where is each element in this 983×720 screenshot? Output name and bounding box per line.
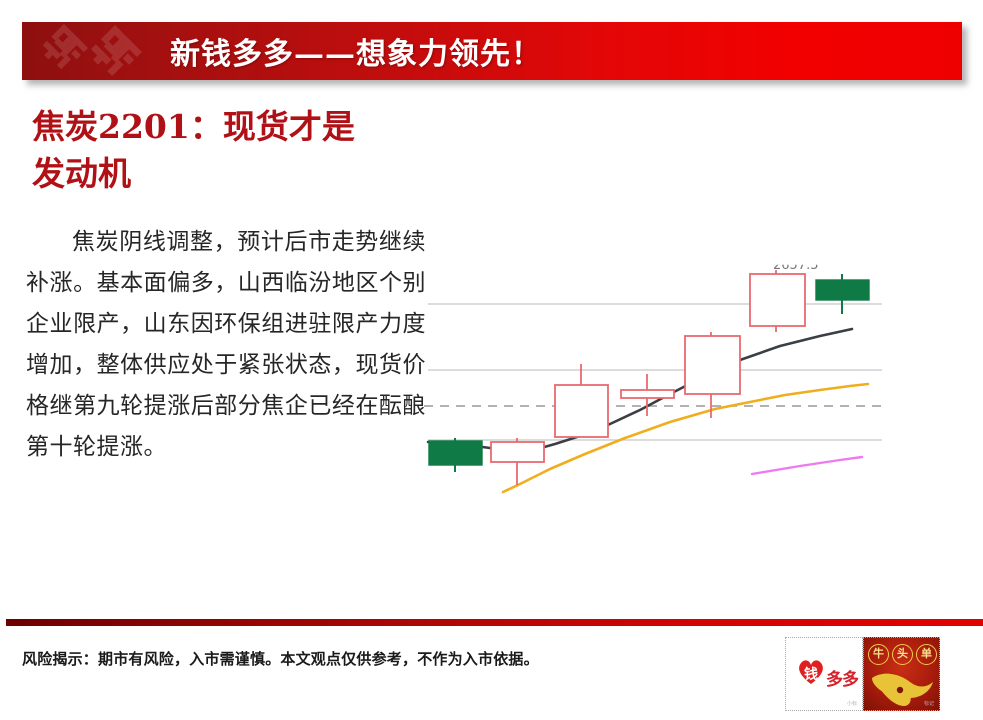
chart-svg [420, 252, 890, 508]
chart-gridlines [428, 304, 882, 440]
logo-niutoudan: 牛 头 单 标记 [863, 637, 940, 711]
logo-suffix-char: 多多 [826, 665, 858, 690]
ma-extra-line [752, 457, 862, 474]
candle-1 [429, 438, 482, 472]
candle-7 [816, 274, 869, 314]
body-paragraph: 焦炭阴线调整，预计后市走势继续补涨。基本面偏多，山西临汾地区个别企业限产，山东因… [26, 222, 426, 468]
logo-qianduoduo: 钱 多多 小标 [785, 637, 863, 711]
logo-char-circle-1: 牛 [868, 644, 889, 665]
logo-heart-char: 钱 [804, 664, 818, 684]
slide-canvas: 新钱多多——想象力领先！ 焦炭2201：现货才是 发动机 焦炭阴线调整，预计后市… [0, 0, 983, 720]
header-title: 新钱多多——想象力领先！ [170, 29, 542, 73]
logo-tiny-mark: 标记 [924, 700, 934, 707]
footer-disclaimer: 风险揭示：期市有风险，入市需谨慎。本文观点仅供参考，不作为入市依据。 [22, 648, 539, 669]
footer-logos: 钱 多多 小标 牛 头 单 标记 [785, 637, 940, 711]
page-title: 焦炭2201：现货才是 发动机 [32, 103, 452, 197]
candle-3 [555, 364, 608, 437]
candle-4 [621, 374, 674, 416]
candle-2 [491, 438, 544, 485]
candlestick-chart: 2657.5 [420, 252, 890, 508]
header-banner: 新钱多多——想象力领先！ [22, 22, 962, 80]
page-title-line-1: 焦炭2201：现货才是 [32, 103, 452, 150]
logo-char-circles: 牛 头 单 [868, 644, 937, 665]
logo-char-circle-3: 单 [916, 644, 937, 665]
page-title-line-2: 发动机 [32, 150, 452, 197]
candle-6 [750, 270, 805, 332]
diamond-lattice-emblem-icon [30, 22, 150, 80]
logo-tiny-mark: 小标 [847, 700, 857, 707]
footer-divider [6, 619, 983, 626]
logo-char-circle-2: 头 [892, 644, 913, 665]
